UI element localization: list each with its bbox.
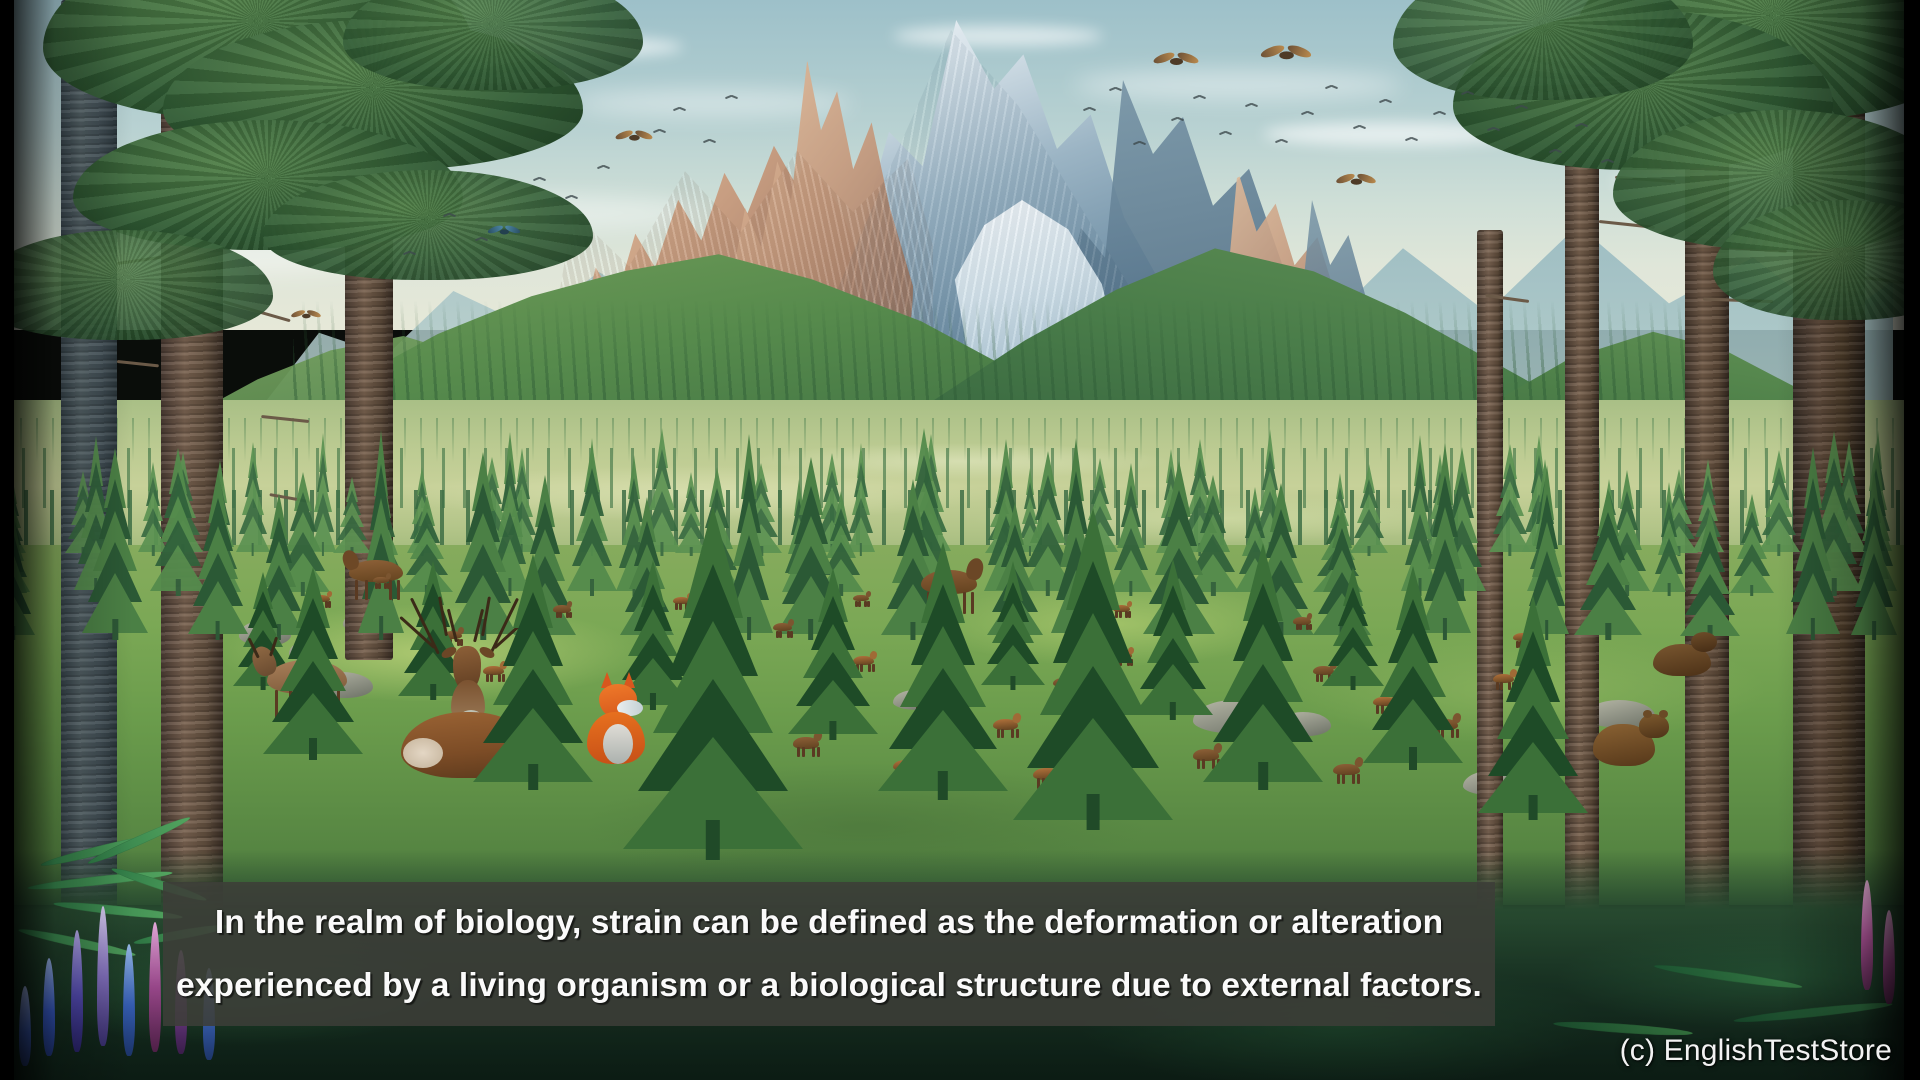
conifer-tree: [1203, 560, 1323, 790]
small-bird: [1549, 150, 1562, 156]
caption-line-1: In the realm of biology, strain can be d…: [215, 906, 1443, 940]
small-bird: [653, 130, 666, 136]
small-bird: [1219, 132, 1232, 138]
small-bird: [443, 214, 456, 220]
small-bird: [533, 178, 546, 184]
small-bird: [1433, 112, 1446, 118]
screenshot-root: In the realm of biology, strain can be d…: [0, 0, 1920, 1080]
right-border-band: [1904, 0, 1920, 1080]
small-bird: [1193, 96, 1206, 102]
small-deer: [373, 572, 394, 589]
small-bird: [403, 252, 416, 258]
small-bird: [725, 96, 738, 102]
small-bird: [1171, 118, 1184, 124]
conifer-tree: [623, 530, 803, 860]
small-bird: [1275, 140, 1288, 146]
hawk-far-left: [291, 310, 321, 325]
conifer-tree: [1013, 530, 1173, 830]
small-bird: [1515, 106, 1528, 112]
small-bird: [1083, 108, 1096, 114]
small-bird: [1353, 126, 1366, 132]
small-bird: [1487, 128, 1500, 134]
small-bird: [1601, 160, 1614, 166]
small-bird: [703, 140, 716, 146]
conifer-tree: [13, 520, 35, 640]
small-bird: [1405, 138, 1418, 144]
conifer-tree: [1363, 580, 1463, 770]
hawk-lower-right: [1336, 173, 1376, 192]
small-bird: [1245, 104, 1258, 110]
caption-overlay: In the realm of biology, strain can be d…: [163, 882, 1495, 1026]
conifer-tree: [1851, 481, 1898, 640]
small-bird: [1575, 124, 1588, 130]
hawk-right: [1153, 52, 1199, 74]
small-bird: [1301, 112, 1314, 118]
hawk-left: [487, 225, 520, 241]
conifer-tree: [82, 461, 149, 640]
hawk-upper-right: [1260, 45, 1312, 70]
small-bird: [475, 238, 488, 244]
small-bird: [1109, 88, 1122, 94]
small-bird: [673, 108, 686, 114]
small-bird: [1461, 92, 1474, 98]
watermark-text: (c) EnglishTestStore: [1620, 1034, 1892, 1068]
caption-line-2: experienced by a living organism or a bi…: [176, 969, 1482, 1003]
conifer-tree: [473, 570, 593, 790]
small-bird: [565, 196, 578, 202]
conifer-tree: [878, 560, 1008, 800]
left-border-band: [0, 0, 14, 1080]
conifer-tree: [1786, 460, 1840, 640]
small-bird: [597, 166, 610, 172]
small-bird: [1379, 100, 1392, 106]
bear-foreground: [1593, 706, 1675, 770]
conifer-tree: [1478, 610, 1588, 820]
conifer-tree: [263, 580, 363, 760]
bear-on-rock: [1653, 630, 1723, 680]
conifer-tree: [1680, 519, 1741, 640]
hawk-center: [615, 130, 653, 148]
small-bird: [1133, 142, 1146, 148]
small-bird: [1325, 86, 1338, 92]
